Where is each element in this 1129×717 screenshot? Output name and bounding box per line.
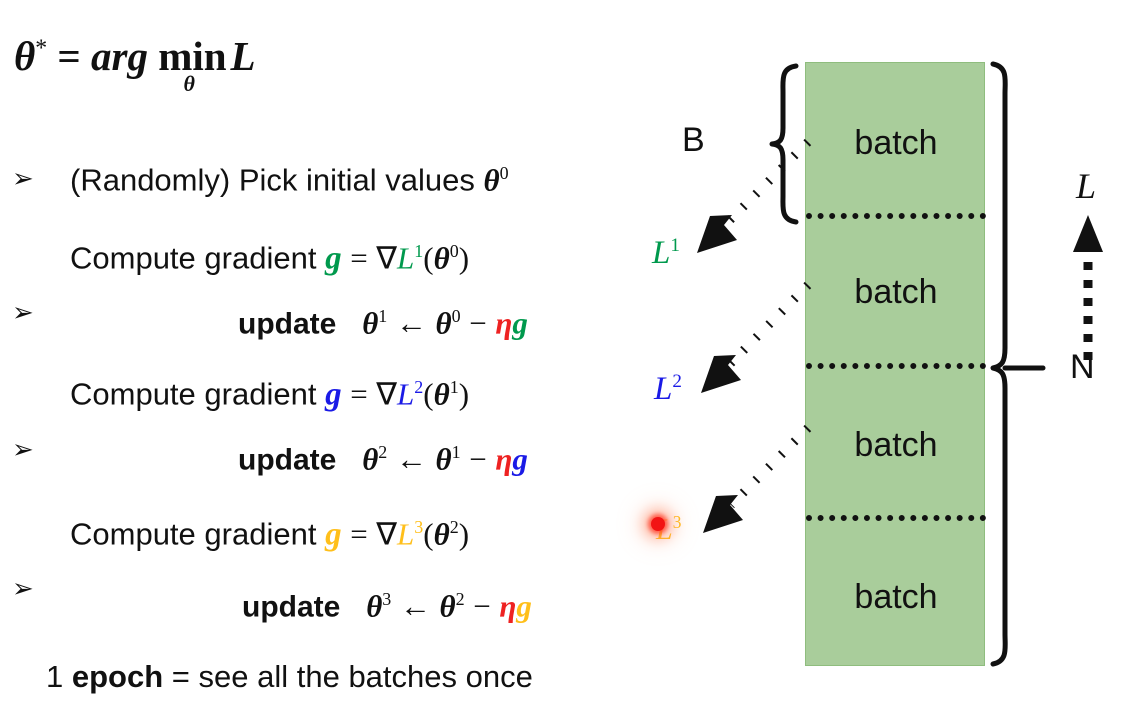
batch-3-arrow-head	[703, 495, 743, 533]
slide-canvas: θ* = arg min θ L ➢ (Randomly) Pick initi…	[0, 0, 1129, 717]
theta-new-superscript-3: 3	[382, 589, 391, 609]
equals-sign-3: =	[350, 376, 367, 411]
epoch-count: 1	[46, 659, 63, 694]
minus-sign-2: −	[469, 441, 486, 476]
loss-tag-1: L1	[652, 236, 680, 270]
batch-2-arrow-head	[701, 355, 741, 393]
theta-old-superscript-1: 0	[452, 306, 461, 326]
theta-initial-superscript: 0	[500, 163, 509, 183]
theta-old-2: θ	[436, 441, 452, 476]
bullet-1-text: (Randomly) Pick initial values	[70, 162, 475, 197]
theta-star-symbol: θ	[14, 33, 35, 79]
minus-sign-3: −	[473, 588, 490, 623]
total-loss-arrow-head	[1073, 215, 1103, 252]
equals-sign: =	[57, 33, 80, 79]
dataset-size-brace	[993, 64, 1005, 664]
theta-arg-2: θ	[434, 240, 450, 275]
batch-1-arrow-shaft	[725, 142, 808, 225]
theta-new-2: θ	[362, 441, 378, 476]
paren-close-4: )	[459, 516, 469, 551]
theta-arg-3: θ	[434, 376, 450, 411]
update-keyword-3: update	[242, 590, 340, 623]
batch-label-4: batch	[806, 580, 986, 614]
theta-new-1: θ	[362, 305, 378, 340]
bullet-2-text: Compute gradient	[70, 240, 316, 275]
theta-old-superscript-2: 1	[452, 442, 461, 462]
paren-close-2: )	[459, 240, 469, 275]
batch-2-arrow-shaft	[729, 285, 808, 365]
dataset-size-label: N	[1070, 350, 1095, 384]
loss-symbol: L	[231, 33, 256, 79]
theta-old-1: θ	[436, 305, 452, 340]
theta-arg-superscript-2: 0	[450, 241, 459, 261]
learning-rate-2: η	[495, 441, 512, 476]
epoch-description: = see all the batches once	[172, 659, 533, 694]
equals-sign-2: =	[350, 240, 367, 275]
paren-open-2: (	[423, 240, 433, 275]
batch-separator-2	[806, 363, 986, 369]
gradient-variable-4: g	[325, 516, 342, 552]
batch-separator-1	[806, 213, 986, 219]
theta-old-superscript-3: 2	[456, 589, 465, 609]
assign-arrow-2: ←	[396, 441, 427, 476]
nabla-operator-3: ∇	[376, 376, 397, 411]
bullet-line-1: (Randomly) Pick initial values θ0	[70, 164, 509, 195]
nabla-operator-2: ∇	[376, 240, 397, 275]
assign-arrow-3: ←	[400, 588, 431, 623]
learning-rate-3: η	[499, 588, 516, 623]
bullet-marker-4: ➢	[12, 576, 34, 602]
bullet-line-4: Compute gradient g = ∇L3(θ2)	[70, 518, 469, 551]
loss-superscript-4: 3	[414, 517, 423, 537]
paren-close-3: )	[459, 376, 469, 411]
batch-size-label: B	[682, 123, 705, 157]
loss-superscript-3: 2	[414, 377, 423, 397]
batch-label-1: batch	[806, 126, 986, 160]
loss-term-2: L	[397, 240, 414, 275]
batch-separator-3	[806, 515, 986, 521]
update-keyword-1: update	[238, 307, 336, 340]
theta-new-superscript-2: 2	[378, 442, 387, 462]
assign-arrow-1: ←	[396, 305, 427, 340]
loss-term-4: L	[397, 516, 414, 551]
loss-tag-2-symbol: L	[654, 371, 672, 407]
gradient-variable-3: g	[325, 376, 342, 412]
update-line-1: update θ1 ← θ0 − ηg	[238, 307, 528, 339]
bullet-line-2: Compute gradient g = ∇L1(θ0)	[70, 242, 469, 275]
loss-tag-1-symbol: L	[652, 235, 670, 271]
theta-initial-symbol: θ	[484, 162, 500, 197]
theta-arg-superscript-3: 1	[450, 377, 459, 397]
batch-3-arrow-shaft	[731, 428, 808, 505]
nabla-operator-4: ∇	[376, 516, 397, 551]
batch-label-3: batch	[806, 428, 986, 462]
dataset-column: batch batch batch batch	[805, 62, 985, 666]
learning-rate-1: η	[495, 305, 512, 340]
arg-operator: arg	[91, 33, 148, 79]
theta-star-superscript: *	[35, 35, 47, 61]
bullet-4-text: Compute gradient	[70, 516, 316, 551]
loss-tag-2: L2	[654, 372, 682, 406]
min-subscript-theta: θ	[158, 73, 220, 95]
gradient-term-3: g	[516, 588, 532, 623]
gradient-term-1: g	[512, 305, 528, 340]
minus-sign-1: −	[469, 305, 486, 340]
bullet-marker-3: ➢	[12, 437, 34, 463]
batch-size-brace	[772, 66, 796, 222]
epoch-note: 1 epoch = see all the batches once	[46, 661, 533, 692]
theta-new-3: θ	[366, 588, 382, 623]
theta-new-superscript-1: 1	[378, 306, 387, 326]
total-loss-label: L	[1076, 168, 1096, 204]
bullet-3-text: Compute gradient	[70, 376, 316, 411]
update-keyword-2: update	[238, 443, 336, 476]
batch-1-arrow-head	[697, 215, 737, 253]
min-operator-block: min θ	[158, 36, 220, 77]
loss-tag-1-superscript: 1	[670, 235, 680, 256]
bullet-line-3: Compute gradient g = ∇L2(θ1)	[70, 378, 469, 411]
update-line-3: update θ3 ← θ2 − ηg	[242, 590, 532, 622]
gradient-variable-2: g	[325, 240, 342, 276]
theta-arg-superscript-4: 2	[450, 517, 459, 537]
update-line-2: update θ2 ← θ1 − ηg	[238, 443, 528, 475]
objective-formula: θ* = arg min θ L	[14, 36, 256, 77]
paren-open-4: (	[423, 516, 433, 551]
loss-superscript-2: 1	[414, 241, 423, 261]
loss-tag-3-superscript: 3	[673, 512, 682, 532]
loss-tag-2-superscript: 2	[672, 371, 682, 392]
equals-sign-4: =	[350, 516, 367, 551]
epoch-keyword: epoch	[72, 659, 163, 694]
loss-term-3: L	[397, 376, 414, 411]
theta-old-3: θ	[440, 588, 456, 623]
theta-arg-4: θ	[434, 516, 450, 551]
paren-open-3: (	[423, 376, 433, 411]
bullet-marker-1: ➢	[12, 166, 34, 192]
laser-pointer-icon	[651, 517, 665, 531]
gradient-term-2: g	[512, 441, 528, 476]
batch-label-2: batch	[806, 275, 986, 309]
bullet-marker-2: ➢	[12, 300, 34, 326]
